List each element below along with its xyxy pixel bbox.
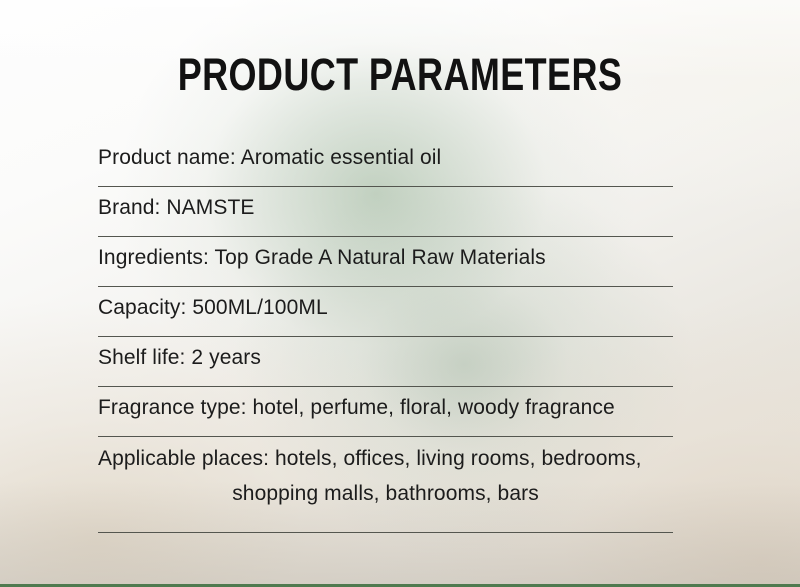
product-parameters-card: PRODUCT PARAMETERS Product name: Aromati…	[0, 0, 800, 587]
spec-text-applicable-places-line2: shopping malls, bathrooms, bars	[98, 481, 673, 507]
spec-text-product-name: Product name: Aromatic essential oil	[98, 145, 673, 171]
spec-row-ingredients: Ingredients: Top Grade A Natural Raw Mat…	[98, 237, 673, 287]
spec-text-ingredients: Ingredients: Top Grade A Natural Raw Mat…	[98, 245, 673, 271]
spec-row-capacity: Capacity: 500ML/100ML	[98, 287, 673, 337]
spec-list: Product name: Aromatic essential oil Bra…	[98, 137, 673, 533]
page-title: PRODUCT PARAMETERS	[80, 50, 720, 100]
spec-text-fragrance-type: Fragrance type: hotel, perfume, floral, …	[98, 395, 673, 421]
spec-text-applicable-places: Applicable places: hotels, offices, livi…	[98, 446, 673, 507]
spec-row-fragrance-type: Fragrance type: hotel, perfume, floral, …	[98, 387, 673, 437]
spec-text-brand: Brand: NAMSTE	[98, 195, 673, 221]
spec-row-product-name: Product name: Aromatic essential oil	[98, 137, 673, 187]
spec-row-brand: Brand: NAMSTE	[98, 187, 673, 237]
spec-row-shelf-life: Shelf life: 2 years	[98, 337, 673, 387]
spec-text-applicable-places-line1: Applicable places: hotels, offices, livi…	[98, 447, 642, 470]
spec-text-capacity: Capacity: 500ML/100ML	[98, 295, 673, 321]
spec-text-shelf-life: Shelf life: 2 years	[98, 345, 673, 371]
spec-row-applicable-places: Applicable places: hotels, offices, livi…	[98, 437, 673, 533]
